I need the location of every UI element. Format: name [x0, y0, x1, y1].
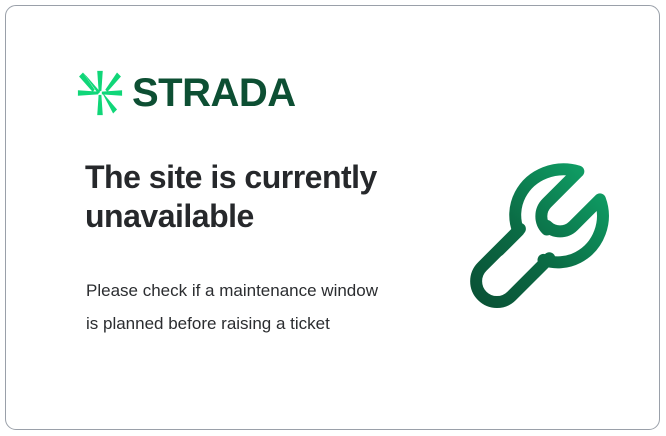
page-description: Please check if a maintenance window is … — [86, 274, 386, 340]
page-title: The site is currently unavailable — [85, 158, 415, 236]
error-page: STRADA The site is currently unavailable… — [0, 0, 666, 436]
status-card: STRADA The site is currently unavailable… — [5, 5, 660, 430]
brand-lockup: STRADA — [77, 70, 296, 116]
wrench-icon — [458, 154, 624, 320]
strada-asterisk-icon — [77, 70, 123, 116]
brand-wordmark: STRADA — [132, 73, 296, 113]
